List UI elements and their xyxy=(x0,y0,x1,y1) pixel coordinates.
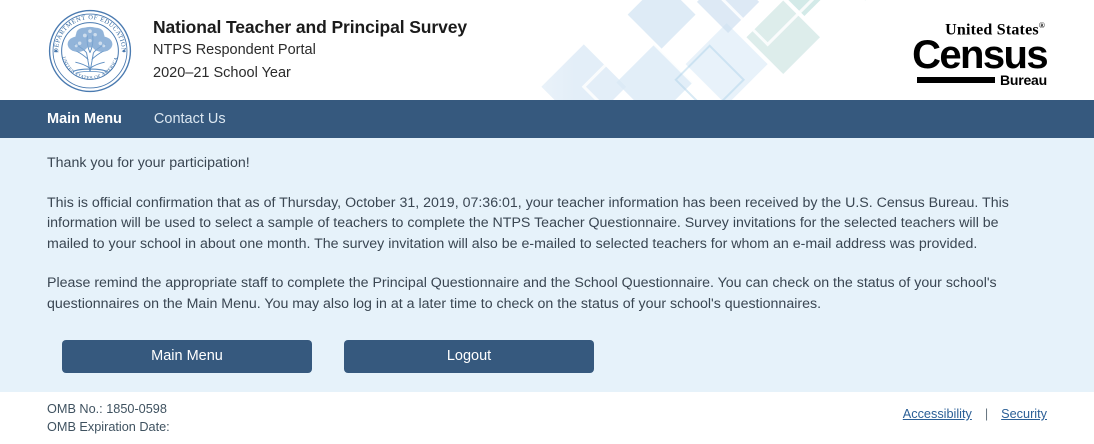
main-content-panel: Thank you for your participation! This i… xyxy=(0,138,1094,392)
footer-link-group: Accessibility | Security xyxy=(903,407,1047,421)
footer-link-separator: | xyxy=(985,407,988,421)
omb-expiration-date: OMB Expiration Date: xyxy=(47,419,1047,437)
census-logo-rule xyxy=(917,77,995,83)
page-title: National Teacher and Principal Survey xyxy=(153,16,467,38)
reminder-paragraph: Please remind the appropriate staff to c… xyxy=(47,254,1017,314)
page-footer: OMB No.: 1850-0598 OMB Expiration Date: … xyxy=(0,392,1094,444)
portal-subtitle: NTPS Respondent Portal xyxy=(153,39,467,61)
main-navigation-bar: Main Menu Contact Us xyxy=(0,100,1094,138)
main-menu-button[interactable]: Main Menu xyxy=(62,340,312,373)
confirmation-paragraph: This is official confirmation that as of… xyxy=(47,174,1017,255)
nav-item-main-menu[interactable]: Main Menu xyxy=(47,111,122,127)
census-logo-line3: Bureau xyxy=(1000,73,1047,87)
omb-info-block: OMB No.: 1850-0598 OMB Expiration Date: xyxy=(47,392,1047,436)
accessibility-link[interactable]: Accessibility xyxy=(903,407,972,421)
header-title-block: National Teacher and Principal Survey NT… xyxy=(153,16,467,84)
census-logo-line2: Census xyxy=(912,35,1047,75)
omb-number: OMB No.: 1850-0598 xyxy=(47,401,1047,419)
security-link[interactable]: Security xyxy=(1001,407,1047,421)
school-year-label: 2020–21 School Year xyxy=(153,62,467,84)
action-button-row: Main Menu Logout xyxy=(47,314,1047,373)
page-header: DEPARTMENT OF EDUCATION UNITED STATES OF… xyxy=(0,0,1094,100)
nav-item-contact-us[interactable]: Contact Us xyxy=(154,111,226,127)
registered-mark-icon: ® xyxy=(1039,21,1045,30)
thank-you-message: Thank you for your participation! xyxy=(47,138,1017,174)
logout-button[interactable]: Logout xyxy=(344,340,594,373)
dept-of-education-seal-icon: DEPARTMENT OF EDUCATION UNITED STATES OF… xyxy=(47,8,133,94)
us-census-bureau-logo: United States® Census Bureau xyxy=(912,22,1047,87)
